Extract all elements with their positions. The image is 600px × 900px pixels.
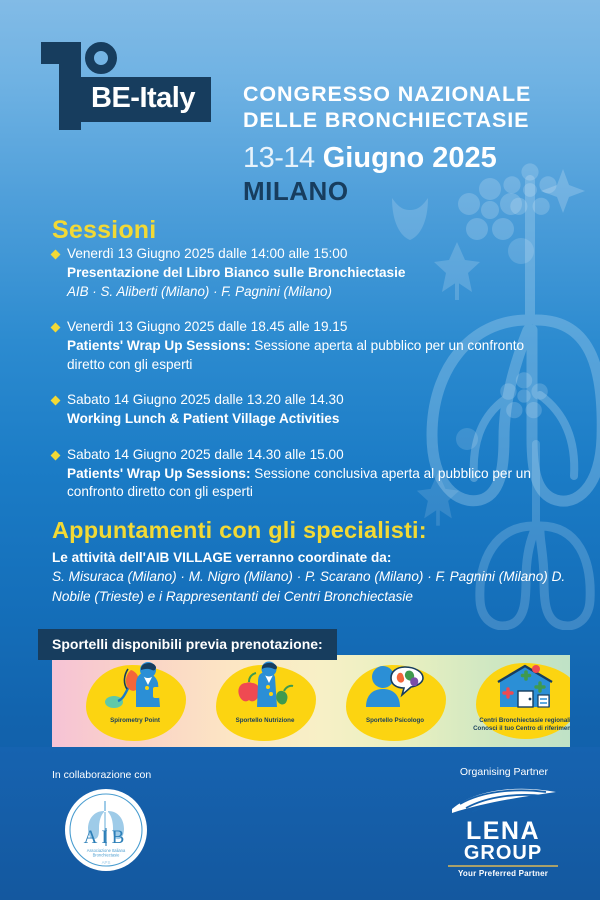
session-item: Venerdì 13 Giugno 2025 dalle 18.45 alle …	[52, 318, 562, 374]
congress-title: CONGRESSO NAZIONALE DELLE BRONCHIECTASIE	[243, 81, 531, 133]
session-title-bold: Patients' Wrap Up Sessions:	[67, 338, 251, 353]
brand-badge: BE-Italy	[75, 77, 211, 122]
service-item-clinics[interactable]: Centri Bronchiectasie regionali Conosci …	[450, 655, 570, 747]
session-title-bold: Patients' Wrap Up Sessions:	[67, 466, 251, 481]
degree-circle-shape	[85, 42, 117, 74]
congress-title-line1: CONGRESSO NAZIONALE	[243, 81, 531, 107]
diamond-bullet-icon	[51, 250, 61, 260]
lena-group-word: GROUP	[446, 843, 560, 863]
session-item: Sabato 14 Giugno 2025 dalle 13.20 alle 1…	[52, 391, 562, 429]
svg-text:APS: APS	[102, 860, 111, 865]
service-label: Centri Bronchiectasie regionali Conosci …	[473, 717, 570, 734]
appointments-lead: Le attività dell'AIB VILLAGE verranno co…	[52, 548, 567, 567]
lena-name: LENA	[446, 820, 560, 843]
session-item: Venerdì 13 Giugno 2025 dalle 14:00 alle …	[52, 245, 562, 301]
diamond-bullet-icon	[51, 323, 61, 333]
spirometry-icon	[98, 661, 172, 716]
event-dates-month: Giugno 2025	[323, 142, 497, 174]
clinic-icon	[488, 661, 562, 716]
poster-root: BE-Italy CONGRESSO NAZIONALE DELLE BRONC…	[0, 0, 600, 900]
session-title: Presentazione del Libro Bianco sulle Bro…	[67, 264, 562, 283]
services-strip: Spirometry Point Sportello Nu	[52, 655, 570, 747]
service-label: Sportello Psicologo	[366, 717, 424, 725]
event-dates: 13-14 Giugno 2025	[243, 143, 497, 174]
session-title: Patients' Wrap Up Sessions: Sessione ape…	[67, 337, 562, 375]
lena-tagline: Your Preferred Partner	[446, 869, 560, 878]
appointments-heading: Appuntamenti con gli specialisti:	[52, 517, 427, 544]
psychologist-icon	[358, 661, 432, 716]
poster-header: BE-Italy CONGRESSO NAZIONALE DELLE BRONC…	[0, 0, 600, 215]
session-speakers: AIB · S. Aliberti (Milano) · F. Pagnini …	[67, 283, 562, 302]
service-item-spirometry[interactable]: Spirometry Point	[70, 655, 200, 747]
lena-group-logo: LENA GROUP Your Preferred Partner	[446, 785, 560, 865]
session-when: Venerdì 13 Giugno 2025 dalle 14:00 alle …	[67, 245, 562, 264]
diamond-bullet-icon	[51, 450, 61, 460]
session-title: Working Lunch & Patient Village Activiti…	[67, 410, 562, 429]
session-when: Sabato 14 Giugno 2025 dalle 14.30 alle 1…	[67, 446, 562, 465]
svg-text:Bronchiectasie: Bronchiectasie	[93, 853, 121, 858]
session-item: Sabato 14 Giugno 2025 dalle 14.30 alle 1…	[52, 446, 562, 502]
diamond-bullet-icon	[51, 396, 61, 406]
session-when: Sabato 14 Giugno 2025 dalle 13.20 alle 1…	[67, 391, 562, 410]
collaboration-label: In collaborazione con	[52, 769, 151, 781]
lena-swoosh-icon	[446, 785, 560, 815]
appointments-block: Le attività dell'AIB VILLAGE verranno co…	[52, 548, 567, 606]
congress-title-line2: DELLE BRONCHIECTASIE	[243, 107, 531, 133]
organising-partner-label: Organising Partner	[460, 766, 548, 778]
nutrition-icon	[228, 661, 302, 716]
service-item-psychologist[interactable]: Sportello Psicologo	[330, 655, 460, 747]
event-dates-days: 13-14	[243, 142, 315, 174]
aib-logo: AIB Associazione Italiana Bronchiectasie…	[64, 788, 148, 872]
service-label: Sportello Nutrizione	[236, 717, 295, 725]
lena-divider	[448, 865, 558, 867]
service-label: Spirometry Point	[110, 717, 160, 725]
poster-footer: In collaborazione con AIB Associazione I…	[0, 747, 600, 900]
brand-label: BE-Italy	[91, 84, 195, 113]
sessions-heading: Sessioni	[52, 216, 156, 245]
session-title: Patients' Wrap Up Sessions: Sessione con…	[67, 465, 562, 503]
service-item-nutrition[interactable]: Sportello Nutrizione	[200, 655, 330, 747]
one-serif-shape	[41, 42, 61, 64]
sessions-list: Venerdì 13 Giugno 2025 dalle 14:00 alle …	[52, 245, 562, 519]
appointments-names: S. Misuraca (Milano) · M. Nigro (Milano)…	[52, 567, 567, 606]
session-when: Venerdì 13 Giugno 2025 dalle 18.45 alle …	[67, 318, 562, 337]
event-city: MILANO	[243, 176, 349, 207]
services-banner-label: Sportelli disponibili previa prenotazion…	[38, 629, 337, 660]
